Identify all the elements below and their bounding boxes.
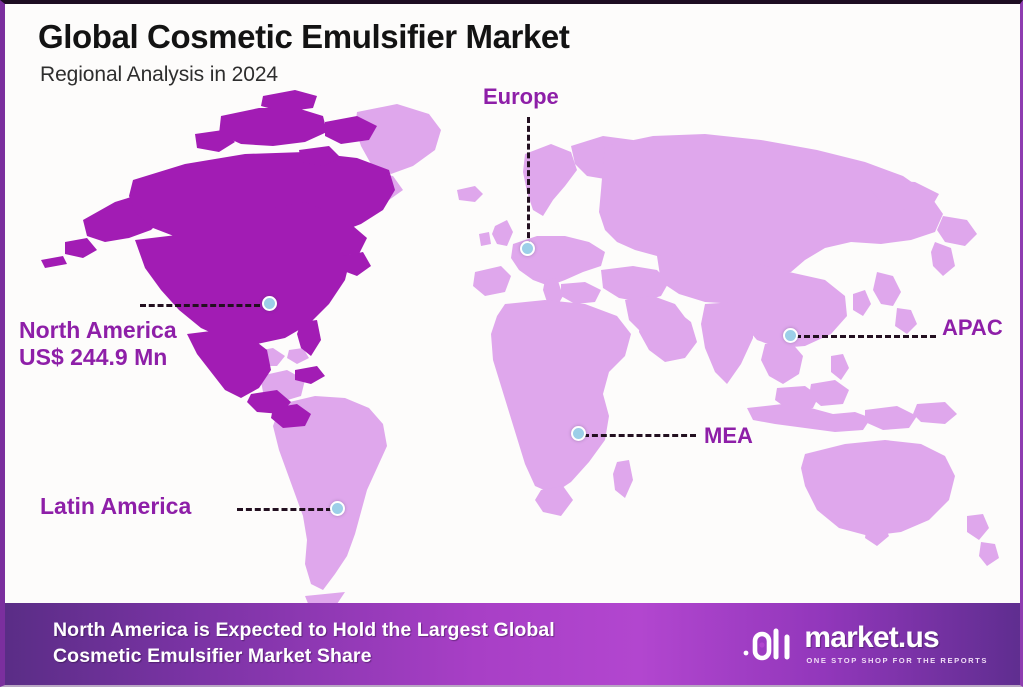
leader-line-europe (527, 117, 530, 247)
region-label-mea: MEA (704, 423, 753, 449)
region-label-europe: Europe (483, 84, 559, 110)
region-label-latin-america: Latin America (40, 493, 191, 520)
banner-headline-line-2: Cosmetic Emulsifier Market Share (53, 644, 555, 670)
banner-headline-line-1: North America is Expected to Hold the La… (53, 618, 555, 644)
footer-banner: North America is Expected to Hold the La… (5, 603, 1023, 685)
region-callout-europe: Europe (483, 84, 559, 110)
map-marker-north-america[interactable] (262, 296, 277, 311)
brand-logo[interactable]: market.us ONE STOP SHOP FOR THE REPORTS (742, 621, 1006, 667)
region-callout-latin-america: Latin America (40, 493, 191, 520)
banner-headline: North America is Expected to Hold the La… (53, 618, 555, 669)
logo-text-group: market.us ONE STOP SHOP FOR THE REPORTS (804, 623, 988, 665)
map-marker-latin-america[interactable] (330, 501, 345, 516)
region-callout-apac: APAC (942, 315, 1003, 341)
infographic-root: Global Cosmetic Emulsifier Market Region… (0, 0, 1023, 687)
region-label-apac: APAC (942, 315, 1003, 341)
region-value-north-america: US$ 244.9 Mn (19, 344, 177, 371)
leader-line-north-america (140, 304, 260, 307)
region-callout-north-america: North America US$ 244.9 Mn (19, 317, 177, 371)
map-highlighted-region-north-america (41, 90, 395, 428)
region-callout-mea: MEA (704, 423, 753, 449)
page-title: Global Cosmetic Emulsifier Market (38, 18, 569, 56)
map-marker-mea[interactable] (571, 426, 586, 441)
header: Global Cosmetic Emulsifier Market Region… (38, 18, 569, 87)
leader-line-mea (583, 434, 696, 437)
leader-line-apac (795, 335, 936, 338)
logo-name: market.us (804, 623, 988, 653)
market-us-logo-icon (742, 621, 794, 667)
map-marker-europe[interactable] (520, 241, 535, 256)
logo-tagline: ONE STOP SHOP FOR THE REPORTS (806, 657, 988, 665)
region-label-north-america: North America (19, 317, 177, 344)
map-marker-apac[interactable] (783, 328, 798, 343)
leader-line-latin-america (237, 508, 332, 511)
